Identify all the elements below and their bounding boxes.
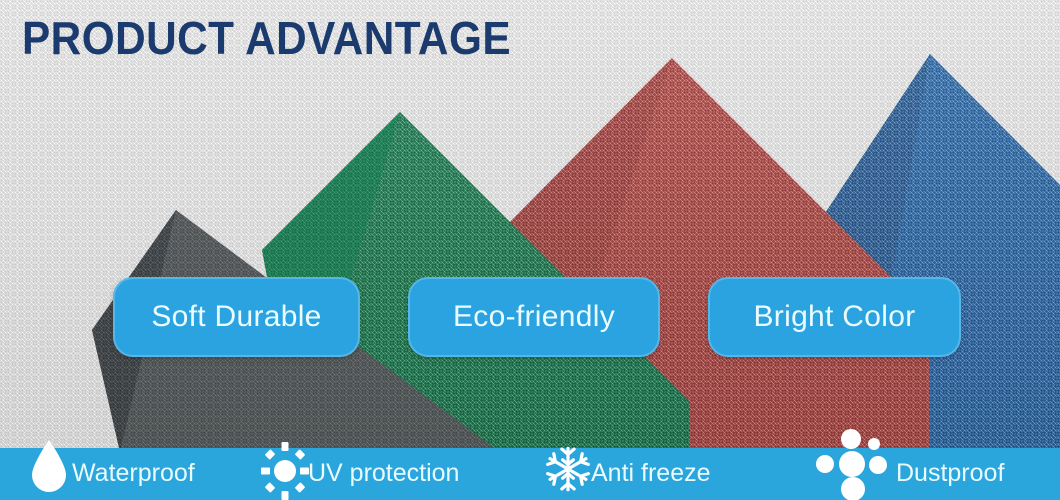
feature-bar: Waterproof (0, 448, 1060, 500)
feature-item-waterproof[interactable]: Waterproof (26, 448, 195, 500)
product-advantage-banner: PRODUCT ADVANTAGE Soft Durable Eco-frien… (0, 0, 1060, 500)
feature-pill-label: Soft Durable (151, 300, 321, 334)
feature-pill-bright-color[interactable]: Bright Color (708, 277, 961, 357)
dust-particles-icon (808, 448, 896, 500)
page-title: PRODUCT ADVANTAGE (22, 12, 511, 64)
feature-label: Waterproof (72, 459, 195, 490)
feature-item-dustproof[interactable]: Dustproof (808, 448, 1004, 500)
feature-pill-soft-durable[interactable]: Soft Durable (113, 277, 360, 357)
feature-item-uv-protection[interactable]: UV protection (262, 448, 459, 500)
feature-pill-label: Eco-friendly (453, 300, 615, 334)
feature-label: UV protection (308, 459, 459, 490)
sun-icon (262, 448, 308, 500)
feature-item-anti-freeze[interactable]: Anti freeze (545, 448, 711, 500)
feature-label: Dustproof (896, 459, 1004, 490)
snowflake-icon (545, 448, 591, 500)
water-drop-icon (26, 448, 72, 500)
feature-label: Anti freeze (591, 459, 711, 490)
feature-pill-eco-friendly[interactable]: Eco-friendly (408, 277, 660, 357)
feature-pill-group: Soft Durable Eco-friendly Bright Color (0, 0, 1060, 500)
feature-pill-label: Bright Color (754, 300, 916, 334)
